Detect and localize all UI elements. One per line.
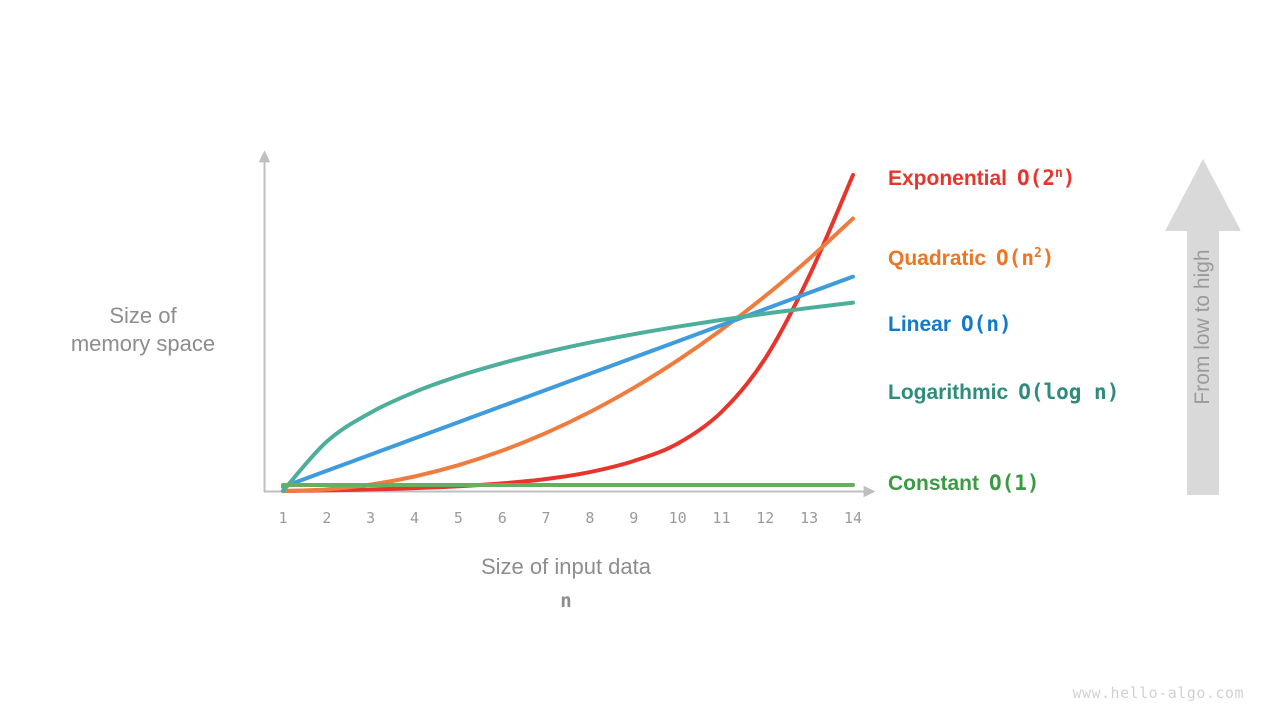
y-axis-title-line2: memory space — [71, 331, 215, 356]
series-label-name: Logarithmic — [888, 381, 1008, 404]
x-tick-label-10: 10 — [658, 509, 698, 527]
x-tick-label-12: 12 — [745, 509, 785, 527]
chart-canvas: Size ofmemory space Size of input data n… — [0, 0, 1280, 720]
y-axis-title-line1: Size of — [109, 303, 176, 328]
x-tick-label-13: 13 — [789, 509, 829, 527]
series-curves — [283, 175, 853, 491]
x-tick-label-5: 5 — [438, 509, 478, 527]
x-tick-label-9: 9 — [614, 509, 654, 527]
x-tick-label-7: 7 — [526, 509, 566, 527]
series-label-notation: O(2n) — [1017, 166, 1075, 190]
series-label-name: Exponential — [888, 167, 1007, 190]
series-curve-exponential — [283, 175, 853, 491]
x-tick-label-14: 14 — [833, 509, 873, 527]
series-label-notation: O(n2) — [996, 246, 1054, 270]
x-axis-variable: n — [380, 590, 752, 612]
series-label-notation: O(n) — [961, 312, 1012, 336]
series-label-notation: O(1) — [989, 471, 1040, 495]
series-curve-logarithmic — [283, 303, 853, 491]
direction-arrow-label: From low to high — [1033, 287, 1280, 367]
x-tick-label-4: 4 — [395, 509, 435, 527]
x-tick-label-1: 1 — [263, 509, 303, 527]
series-curve-linear — [283, 277, 853, 487]
series-label-exponent: 2 — [1034, 246, 1042, 261]
x-tick-label-2: 2 — [307, 509, 347, 527]
series-label-linear: LinearO(n) — [888, 312, 1012, 337]
footer-url: www.hello-algo.com — [1072, 684, 1244, 702]
x-axis-title: Size of input data — [380, 553, 752, 581]
x-tick-label-3: 3 — [351, 509, 391, 527]
series-label-exponent: n — [1055, 166, 1063, 181]
x-tick-label-6: 6 — [482, 509, 522, 527]
x-tick-label-11: 11 — [701, 509, 741, 527]
series-label-quadratic: QuadraticO(n2) — [888, 246, 1054, 271]
series-label-constant: ConstantO(1) — [888, 471, 1040, 496]
y-axis-title: Size ofmemory space — [20, 302, 266, 358]
series-label-name: Constant — [888, 472, 979, 495]
direction-arrow-text: From low to high — [1191, 249, 1215, 404]
series-label-logarithmic: LogarithmicO(log n) — [888, 380, 1119, 405]
axes-group — [264, 160, 866, 492]
series-label-notation: O(log n) — [1018, 380, 1119, 404]
series-label-name: Linear — [888, 313, 951, 336]
series-label-exponential: ExponentialO(2n) — [888, 166, 1075, 191]
series-label-name: Quadratic — [888, 247, 986, 270]
x-tick-label-8: 8 — [570, 509, 610, 527]
